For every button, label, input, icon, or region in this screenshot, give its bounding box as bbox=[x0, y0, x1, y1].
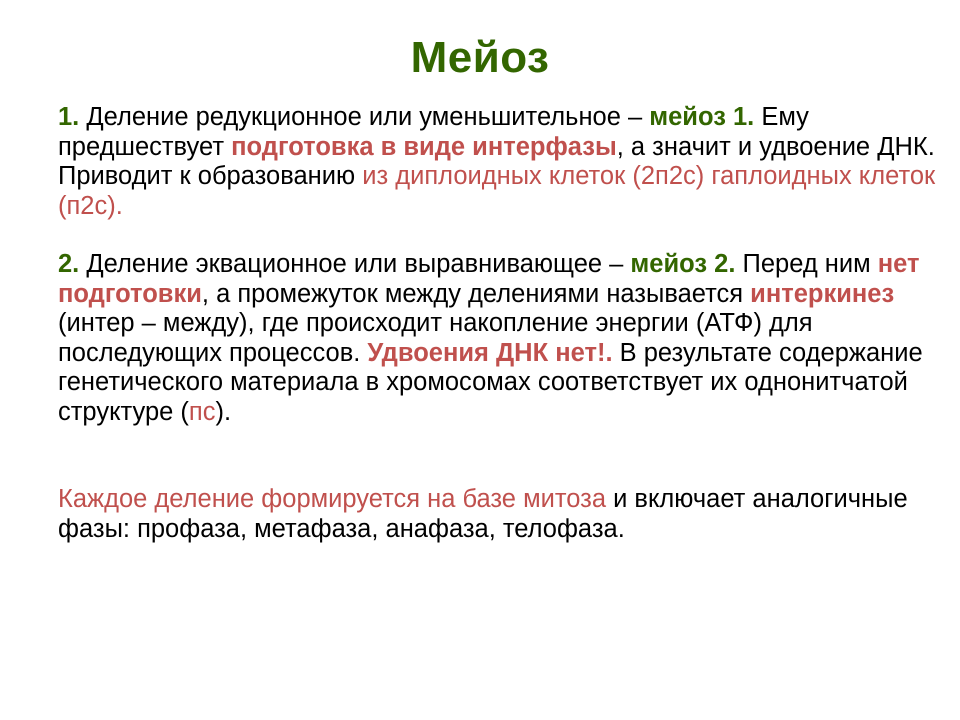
page-title: Мейоз bbox=[0, 0, 960, 82]
run-marker-2: 2. bbox=[58, 250, 79, 278]
run-text-2b: Перед ним bbox=[735, 250, 877, 278]
run-term-based-on-mitosis: Каждое деление формируется на базе митоз… bbox=[58, 485, 606, 513]
run-text-2a: Деление эквационное или выравнивающее – bbox=[79, 250, 630, 278]
run-term-no-dna-doubling: Удвоения ДНК нет!. bbox=[367, 339, 612, 367]
run-term-meiosis-1: мейоз 1. bbox=[649, 103, 754, 131]
run-term-interphase-prep: подготовка в виде интерфазы bbox=[231, 133, 617, 161]
slide-body: 1. Деление редукционное или уменьшительн… bbox=[58, 103, 942, 544]
run-text-1a: Деление редукционное или уменьшительное … bbox=[79, 103, 649, 131]
paragraph-1: 1. Деление редукционное или уменьшительн… bbox=[58, 103, 942, 221]
slide-canvas: Мейоз 1. Деление редукционное или уменьш… bbox=[0, 0, 960, 720]
run-text-2f: ). bbox=[215, 398, 231, 426]
paragraph-2: 2. Деление эквационное или выравнивающее… bbox=[58, 250, 942, 427]
paragraph-3: Каждое деление формируется на базе митоз… bbox=[58, 485, 942, 544]
run-term-meiosis-2: мейоз 2. bbox=[630, 250, 735, 278]
run-text-2c: , а промежуток между делениями называетс… bbox=[202, 280, 750, 308]
run-term-interkinesis: интеркинез bbox=[750, 280, 894, 308]
run-term-nc: пс bbox=[189, 398, 216, 426]
run-marker-1: 1. bbox=[58, 103, 79, 131]
